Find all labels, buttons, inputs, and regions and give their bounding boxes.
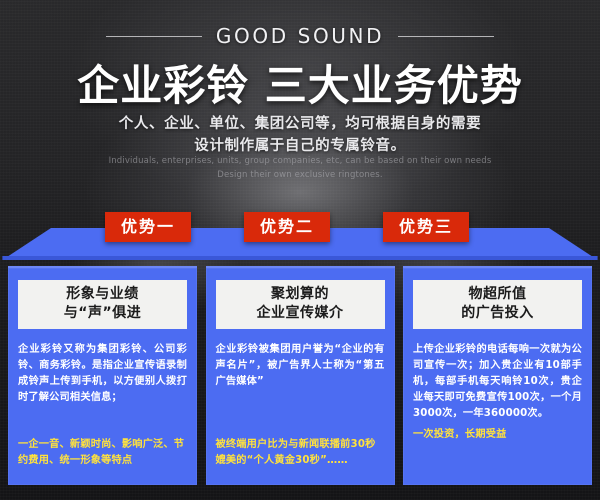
- advantage-column-2: 聚划算的 企业宣传媒介 企业彩铃被集团用户誉为“企业的有声名片”，被广告界人士称…: [206, 266, 395, 485]
- advantage-column-1: 形象与业绩 与“声”俱进 企业彩铃又称为集团彩铃、公司彩铃、商务彩铃。是指企业宣…: [8, 266, 197, 485]
- badge-advantage-2: 优势二: [244, 212, 330, 242]
- column-3-title: 物超所值 的广告投入: [413, 280, 582, 329]
- subtitle-en-line2: Design their own exclusive ringtones.: [0, 170, 600, 180]
- eyebrow-row: GOOD SOUND: [0, 24, 600, 48]
- column-2-body: 企业彩铃被集团用户誉为“企业的有声名片”，被广告界人士称为“第五广告媒体”: [216, 342, 385, 390]
- advantage-column-3: 物超所值 的广告投入 上传企业彩铃的电话每响一次就为公司宣传一次；加入贵企业有1…: [403, 266, 592, 485]
- subtitle-en-line1: Individuals, enterprises, units, group c…: [0, 156, 600, 166]
- column-1-title-line2: 与“声”俱进: [20, 304, 185, 323]
- badge-advantage-1: 优势一: [105, 212, 191, 242]
- column-1-accent: 一企一音、新颖时尚、影响广泛、节约费用、统一形象等特点: [18, 437, 187, 469]
- column-2-title-line1: 聚划算的: [218, 285, 383, 304]
- column-3-accent: 一次投资，长期受益: [413, 427, 582, 443]
- eyebrow-rule-right: [398, 36, 494, 37]
- eyebrow-text: GOOD SOUND: [216, 24, 384, 48]
- column-1-title: 形象与业绩 与“声”俱进: [18, 280, 187, 329]
- subtitle-cn-line1: 个人、企业、单位、集团公司等，均可根据自身的需要: [0, 112, 600, 133]
- columns-container: 形象与业绩 与“声”俱进 企业彩铃又称为集团彩铃、公司彩铃、商务彩铃。是指企业宣…: [0, 266, 600, 486]
- eyebrow-rule-left: [106, 36, 202, 37]
- platform-front-edge: [0, 256, 600, 260]
- column-2-title: 聚划算的 企业宣传媒介: [216, 280, 385, 329]
- column-3-body: 上传企业彩铃的电话每响一次就为公司宣传一次；加入贵企业有10部手机，每部手机每天…: [413, 342, 582, 422]
- column-1-title-line1: 形象与业绩: [20, 285, 185, 304]
- column-3-title-line1: 物超所值: [415, 285, 580, 304]
- column-2-title-line2: 企业宣传媒介: [218, 304, 383, 323]
- column-2-accent: 被终端用户比为与新闻联播前30秒媲美的“个人黄金30秒”……: [216, 437, 385, 469]
- page-title: 企业彩铃 三大业务优势: [0, 52, 600, 113]
- column-1-body: 企业彩铃又称为集团彩铃、公司彩铃、商务彩铃。是指企业宣传语录制成铃声上传到手机，…: [18, 342, 187, 406]
- poster-canvas: GOOD SOUND 企业彩铃 三大业务优势 个人、企业、单位、集团公司等，均可…: [0, 0, 600, 500]
- badge-advantage-3: 优势三: [383, 212, 469, 242]
- column-3-title-line2: 的广告投入: [415, 304, 580, 323]
- subtitle-cn-line2: 设计制作属于自己的专属铃音。: [0, 134, 600, 155]
